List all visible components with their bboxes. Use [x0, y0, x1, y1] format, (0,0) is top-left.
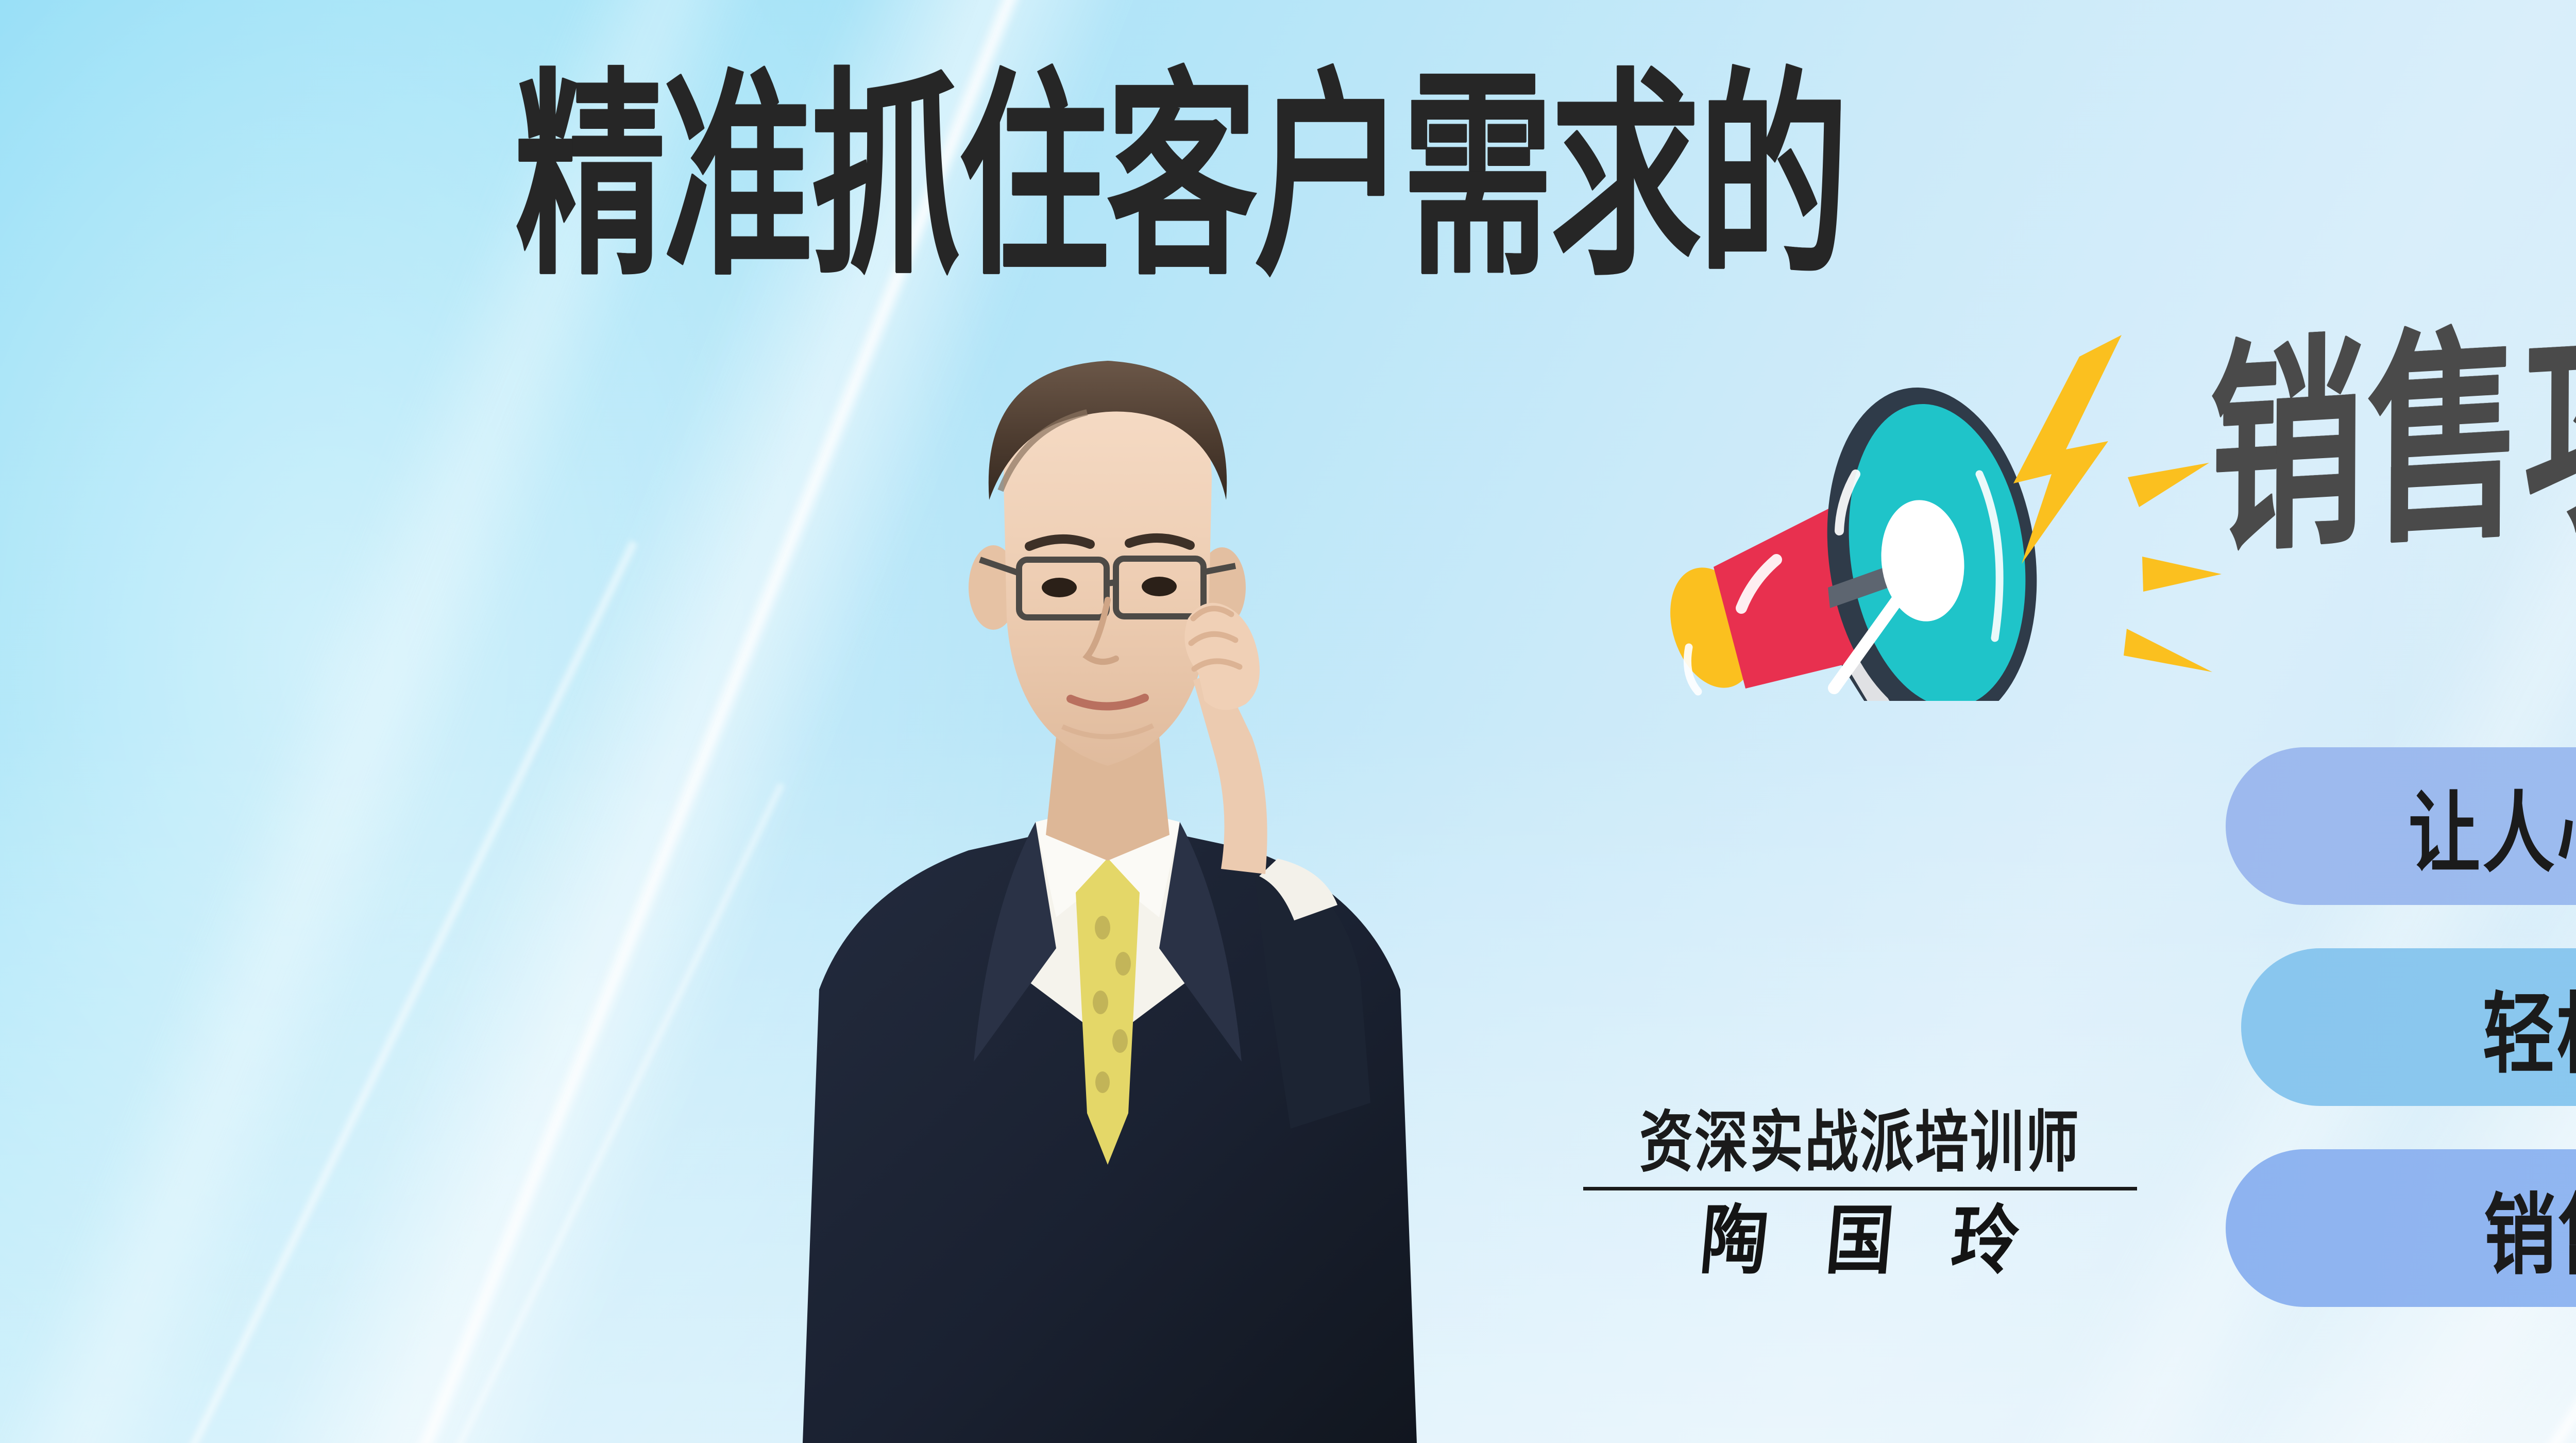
instructor-divider: [1583, 1187, 2137, 1190]
benefit-pill[interactable]: 轻松拿下大客户: [2241, 948, 2576, 1106]
background-streak: [0, 539, 640, 1443]
instructor-block: 资深实战派培训师 陶 国 玲: [1566, 1108, 2154, 1278]
benefit-pill-label: 让人心动的销售秘籍: [2408, 763, 2576, 890]
benefit-pill-label: 轻松拿下大客户: [2482, 964, 2576, 1090]
sound-ray-icon: [2128, 463, 2209, 507]
background-streak: [234, 782, 787, 1443]
benefit-pill-list: 让人心动的销售秘籍 轻松拿下大客户 销售小白到大佬: [2226, 747, 2576, 1350]
promo-banner: 精准抓住客户需求的 销售攻略: [0, 0, 2576, 1443]
benefit-pill-label: 销售小白到大佬: [2484, 1165, 2576, 1291]
instructor-portrait: [747, 258, 1520, 1443]
instructor-name: 陶 国 玲: [1563, 1198, 2157, 1282]
instructor-title: 资深实战派培训师: [1566, 1108, 2154, 1178]
sound-ray-icon: [2142, 557, 2222, 592]
megaphone-icon: [1664, 320, 2241, 701]
page-title-line2: 销售攻略: [2209, 305, 2576, 565]
benefit-pill[interactable]: 销售小白到大佬: [2226, 1149, 2576, 1307]
page-title-line1: 精准抓住客户需求的: [515, 67, 1846, 287]
benefit-pill[interactable]: 让人心动的销售秘籍: [2226, 747, 2576, 905]
sound-ray-icon: [2124, 629, 2212, 672]
